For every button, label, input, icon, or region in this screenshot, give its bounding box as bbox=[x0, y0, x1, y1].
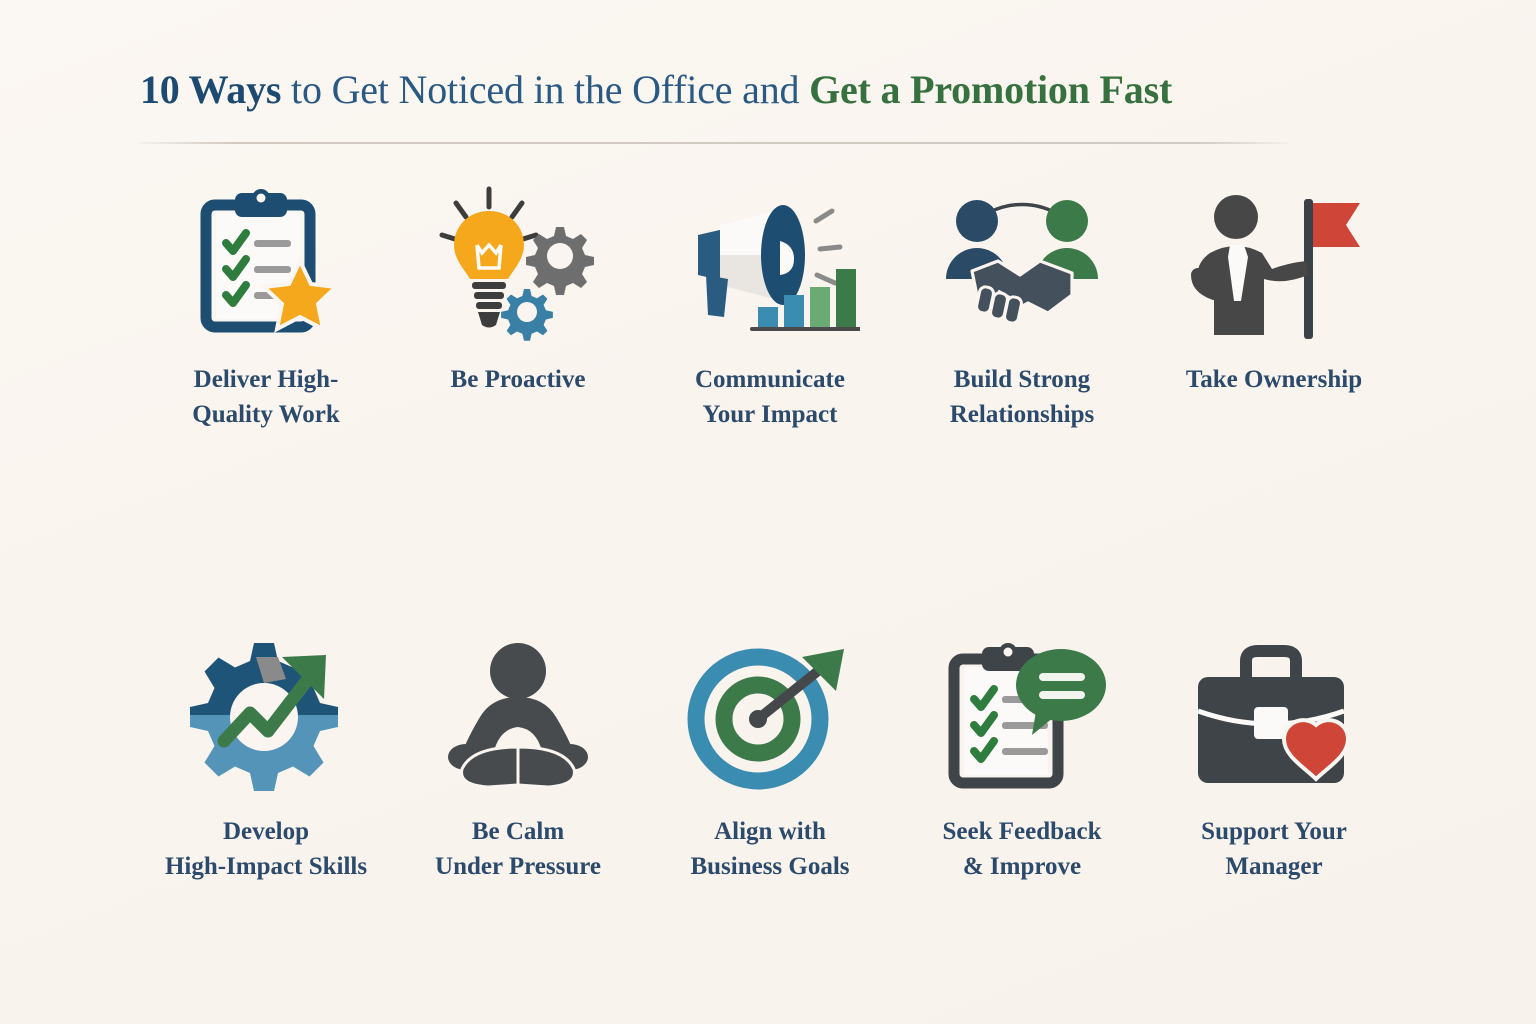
item-support-your-manager: Support Your Manager bbox=[1148, 632, 1400, 884]
item-label: Be Proactive bbox=[451, 363, 586, 398]
person-with-flag-icon bbox=[1184, 180, 1364, 345]
item-develop-high-impact-skills: Develop High-Impact Skills bbox=[140, 632, 392, 884]
item-label: Build Strong Relationships bbox=[950, 363, 1094, 432]
item-deliver-high-quality-work: Deliver High- Quality Work bbox=[140, 180, 392, 432]
item-be-proactive: Be Proactive bbox=[392, 180, 644, 432]
item-label: Be Calm Under Pressure bbox=[435, 815, 601, 884]
briefcase-heart-icon bbox=[1184, 632, 1364, 797]
item-label: Seek Feedback & Improve bbox=[942, 815, 1101, 884]
target-arrow-icon bbox=[680, 632, 860, 797]
item-be-calm-under-pressure: Be Calm Under Pressure bbox=[392, 632, 644, 884]
gear-growth-arrow-icon bbox=[176, 632, 356, 797]
item-align-with-business-goals: Align with Business Goals bbox=[644, 632, 896, 884]
infographic-page: 10 Ways to Get Noticed in the Office and… bbox=[0, 0, 1536, 1024]
title-part-highlight: 10 Ways bbox=[140, 67, 281, 112]
header: 10 Ways to Get Noticed in the Office and… bbox=[140, 66, 1290, 113]
title-divider bbox=[140, 142, 1288, 144]
item-label: Communicate Your Impact bbox=[695, 363, 845, 432]
item-build-strong-relationships: Build Strong Relationships bbox=[896, 180, 1148, 432]
title-part-middle: to Get Noticed in the Office and bbox=[281, 67, 809, 112]
title-part-accent: Get a Promotion Fast bbox=[809, 67, 1172, 112]
item-seek-feedback-improve: Seek Feedback & Improve bbox=[896, 632, 1148, 884]
item-label: Align with Business Goals bbox=[690, 815, 849, 884]
item-take-ownership: Take Ownership bbox=[1148, 180, 1400, 432]
lightbulb-gears-icon bbox=[428, 180, 608, 345]
item-communicate-your-impact: Communicate Your Impact bbox=[644, 180, 896, 432]
item-label: Deliver High- Quality Work bbox=[192, 363, 340, 432]
item-label: Develop High-Impact Skills bbox=[165, 815, 367, 884]
items-grid: Deliver High- Quality Work bbox=[140, 180, 1400, 884]
item-label: Support Your Manager bbox=[1201, 815, 1347, 884]
clipboard-feedback-bubble-icon bbox=[932, 632, 1112, 797]
handshake-people-icon bbox=[932, 180, 1112, 345]
megaphone-bar-chart-icon bbox=[680, 180, 860, 345]
meditating-person-icon bbox=[428, 632, 608, 797]
clipboard-checklist-star-icon bbox=[176, 180, 356, 345]
page-title: 10 Ways to Get Noticed in the Office and… bbox=[140, 66, 1290, 113]
item-label: Take Ownership bbox=[1186, 363, 1362, 398]
